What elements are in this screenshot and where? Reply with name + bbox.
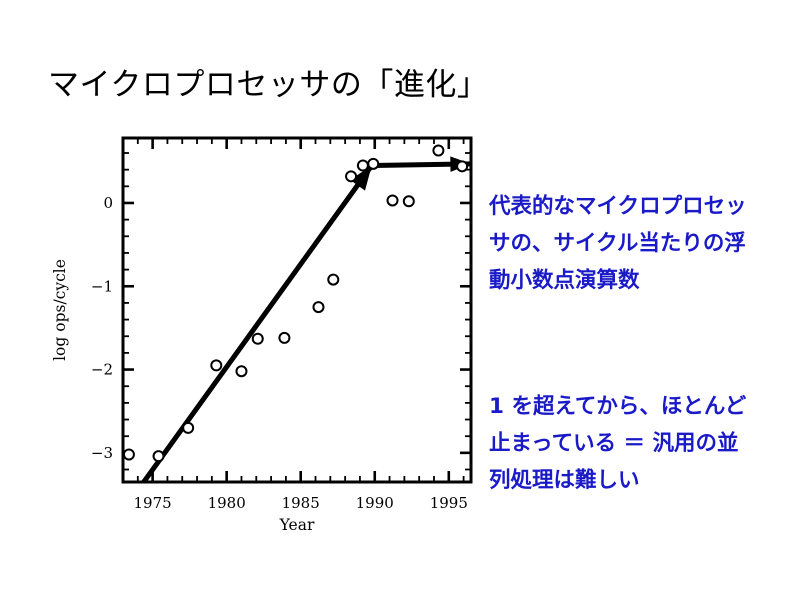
- plot-frame: [123, 138, 471, 482]
- annotation-text-bottom: 1 を超えてから、ほとんど止まっている ＝ 汎用の並列処理は難しい: [489, 388, 751, 499]
- data-point: [236, 366, 246, 376]
- data-point: [183, 423, 193, 433]
- x-axis-title: Year: [279, 516, 315, 530]
- x-tick-label: 1990: [356, 494, 394, 512]
- y-axis-title: log ops/cycle: [51, 259, 69, 361]
- x-tick-label: 1995: [430, 494, 468, 512]
- data-point: [253, 334, 263, 344]
- x-tick-label: 1980: [208, 494, 246, 512]
- data-point: [457, 161, 467, 171]
- y-tick-label: −2: [91, 361, 113, 379]
- data-point: [346, 171, 356, 181]
- data-point: [279, 333, 289, 343]
- data-point: [433, 145, 443, 155]
- annotation-text-top: 代表的なマイクロプロセッサの、サイクル当たりの浮動小数点演算数: [489, 188, 751, 299]
- y-tick-label: −1: [91, 277, 113, 295]
- data-point: [358, 160, 368, 170]
- data-point: [211, 360, 221, 370]
- scatter-plot-svg: 19751980198519901995Year0−1−2−3log ops/c…: [45, 130, 485, 530]
- data-point: [313, 302, 323, 312]
- page-title: マイクロプロセッサの「進化」: [48, 66, 488, 104]
- slide-canvas: マイクロプロセッサの「進化」 19751980198519901995Year0…: [0, 0, 800, 600]
- data-point: [154, 451, 164, 461]
- data-point: [388, 195, 398, 205]
- x-tick-label: 1985: [282, 494, 320, 512]
- x-tick-label: 1975: [134, 494, 172, 512]
- data-point: [404, 196, 414, 206]
- data-point: [328, 275, 338, 285]
- chart-figure: 19751980198519901995Year0−1−2−3log ops/c…: [45, 130, 485, 530]
- y-tick-label: 0: [103, 194, 113, 212]
- y-tick-label: −3: [91, 444, 113, 462]
- data-point: [368, 159, 378, 169]
- data-point: [124, 450, 134, 460]
- trend-arrow-line: [144, 164, 471, 482]
